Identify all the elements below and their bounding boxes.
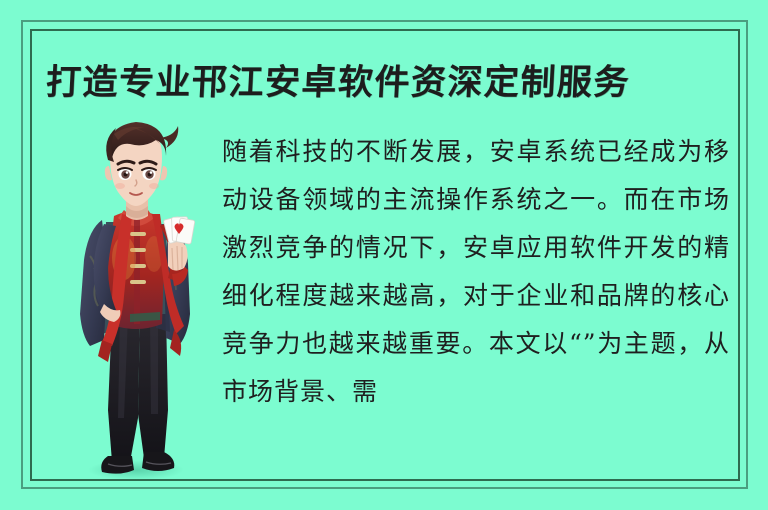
left-shoe: [101, 456, 134, 474]
right-hand-with-cards: [163, 216, 195, 270]
playing-cards: [163, 216, 195, 244]
right-shoe: [142, 452, 174, 471]
body-paragraph: 随着科技的不断发展，安卓系统已经成为移动设备领域的主流操作系统之一。而在市场激烈…: [222, 128, 730, 416]
character-svg: [68, 118, 204, 484]
poster-canvas: 打造专业邗江安卓软件资深定制服务: [0, 0, 768, 510]
page-title: 打造专业邗江安卓软件资深定制服务: [45, 58, 708, 108]
character-illustration: [68, 118, 204, 484]
